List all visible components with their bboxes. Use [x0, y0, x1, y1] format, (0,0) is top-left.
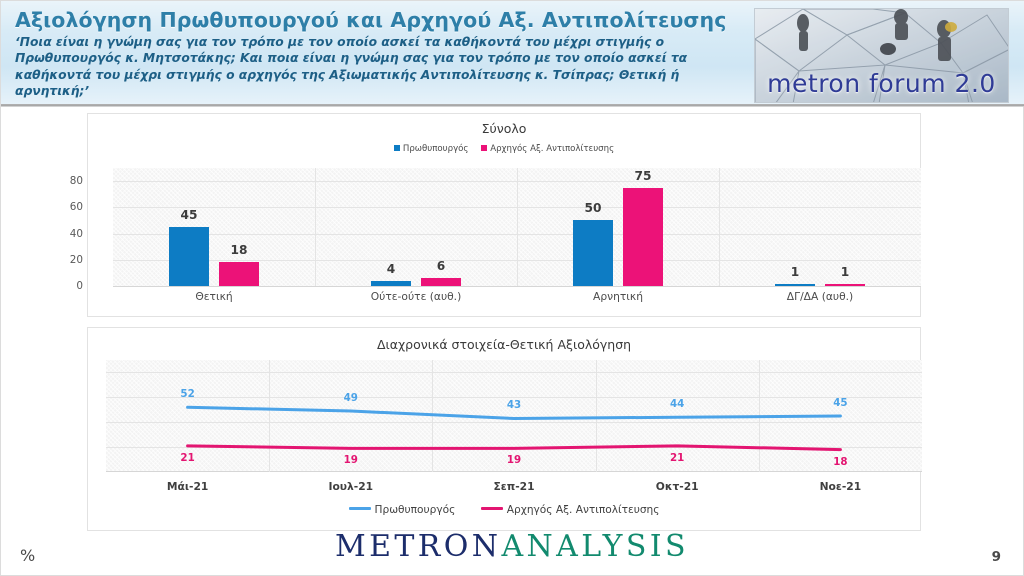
legend-label-opposition-line: Αρχηγός Αξ. Αντιπολίτευσης	[507, 504, 660, 516]
bar-chart-title: Σύνολο	[88, 121, 920, 136]
bar-pm-1	[371, 281, 411, 286]
point-label-pm-2: 43	[507, 399, 521, 411]
point-label-opposition-2: 19	[507, 454, 521, 466]
metron-analysis-logo: METRONANALYSIS	[1, 529, 1023, 564]
bar-pm-0	[169, 227, 209, 286]
page-title: Αξιολόγηση Πρωθυπουργού και Αρχηγού Αξ. …	[15, 7, 721, 33]
bar-value-label-opposition-2: 75	[635, 169, 652, 183]
logo-text: metron forum 2.0	[755, 69, 1008, 98]
y-axis-tick-60: 60	[59, 201, 83, 213]
bar-value-label-opposition-0: 18	[231, 243, 248, 257]
line-x-axis-label-1: Ιουλ-21	[328, 480, 373, 493]
legend-label-pm: Πρωθυπουργός	[403, 144, 469, 154]
line-x-axis-label-2: Σεπ-21	[493, 480, 534, 493]
y-axis-tick-20: 20	[59, 254, 83, 266]
point-label-pm-4: 45	[833, 397, 847, 409]
brand-metron: METRON	[335, 529, 501, 564]
legend-swatch-pm	[394, 145, 400, 151]
x-axis-category-2: Αρνητική	[593, 290, 643, 303]
legend-swatch-opposition	[481, 145, 487, 151]
bar-value-label-opposition-1: 6	[437, 259, 445, 273]
legend-item-pm-line: Πρωθυπουργός	[349, 504, 456, 516]
legend-line-pm	[349, 507, 371, 510]
legend-item-opposition: Αρχηγός Αξ. Αντιπολίτευσης	[481, 144, 614, 154]
bar-chart-panel: Σύνολο Πρωθυπουργός Αρχηγός Αξ. Αντιπολί…	[87, 113, 921, 317]
survey-question: ‘Ποια είναι η γνώμη σας για τον τρόπο με…	[15, 34, 721, 100]
bar-chart-legend: Πρωθυπουργός Αρχηγός Αξ. Αντιπολίτευσης	[88, 144, 920, 154]
bar-value-label-opposition-3: 1	[841, 265, 849, 279]
line-chart-legend: Πρωθυπουργός Αρχηγός Αξ. Αντιπολίτευσης	[88, 504, 920, 516]
brand-analysis: ANALYSIS	[501, 529, 689, 564]
bar-chart-plot-area: 451846507511	[113, 168, 921, 286]
bar-pm-2	[573, 220, 613, 286]
line-chart-panel: Διαχρονικά στοιχεία-Θετική Αξιολόγηση 52…	[87, 327, 921, 531]
gridline-y-0	[113, 286, 921, 287]
y-axis-tick-80: 80	[59, 175, 83, 187]
header-text-block: Αξιολόγηση Πρωθυπουργού και Αρχηγού Αξ. …	[15, 7, 721, 100]
bar-value-label-pm-0: 45	[181, 208, 198, 222]
slide-header: Αξιολόγηση Πρωθυπουργού και Αρχηγού Αξ. …	[1, 1, 1024, 107]
category-separator-3	[719, 168, 720, 286]
legend-item-opposition-line: Αρχηγός Αξ. Αντιπολίτευσης	[481, 504, 660, 516]
x-axis-category-3: ΔΓ/ΔΑ (αυθ.)	[787, 290, 853, 303]
bar-value-label-pm-3: 1	[791, 265, 799, 279]
metron-forum-logo: metron forum 2.0	[754, 8, 1009, 103]
legend-line-opposition	[481, 507, 503, 510]
point-label-pm-0: 52	[180, 388, 194, 400]
slide: Αξιολόγηση Πρωθυπουργού και Αρχηγού Αξ. …	[0, 0, 1024, 576]
point-label-pm-1: 49	[344, 392, 358, 404]
legend-label-opposition: Αρχηγός Αξ. Αντιπολίτευσης	[490, 144, 614, 154]
bar-opposition-3	[825, 284, 865, 286]
page-number: 9	[992, 549, 1001, 565]
category-separator-2	[517, 168, 518, 286]
legend-label-pm-line: Πρωθυπουργός	[375, 504, 456, 516]
point-label-pm-3: 44	[670, 398, 684, 410]
legend-item-pm: Πρωθυπουργός	[394, 144, 469, 154]
line-chart-plot-area: 52494344452119192118	[106, 360, 922, 472]
bar-opposition-1	[421, 278, 461, 286]
point-label-opposition-4: 18	[833, 456, 847, 468]
point-label-opposition-1: 19	[344, 454, 358, 466]
line-chart-title: Διαχρονικά στοιχεία-Θετική Αξιολόγηση	[88, 337, 920, 352]
line-x-axis-label-0: Μάι-21	[167, 480, 208, 493]
x-axis-category-0: Θετική	[195, 290, 232, 303]
bar-value-label-pm-2: 50	[585, 201, 602, 215]
bar-pm-3	[775, 284, 815, 286]
line-opposition	[188, 446, 841, 450]
x-axis-category-1: Ούτε-ούτε (αυθ.)	[371, 290, 462, 303]
bar-opposition-0	[219, 262, 259, 286]
bar-value-label-pm-1: 4	[387, 262, 395, 276]
point-label-opposition-0: 21	[180, 452, 194, 464]
bar-opposition-2	[623, 188, 663, 286]
y-axis-tick-40: 40	[59, 228, 83, 240]
point-label-opposition-3: 21	[670, 452, 684, 464]
category-separator-1	[315, 168, 316, 286]
y-axis-tick-0: 0	[59, 280, 83, 292]
line-x-axis-label-3: Οκτ-21	[656, 480, 699, 493]
line-x-axis-label-4: Νοε-21	[820, 480, 862, 493]
